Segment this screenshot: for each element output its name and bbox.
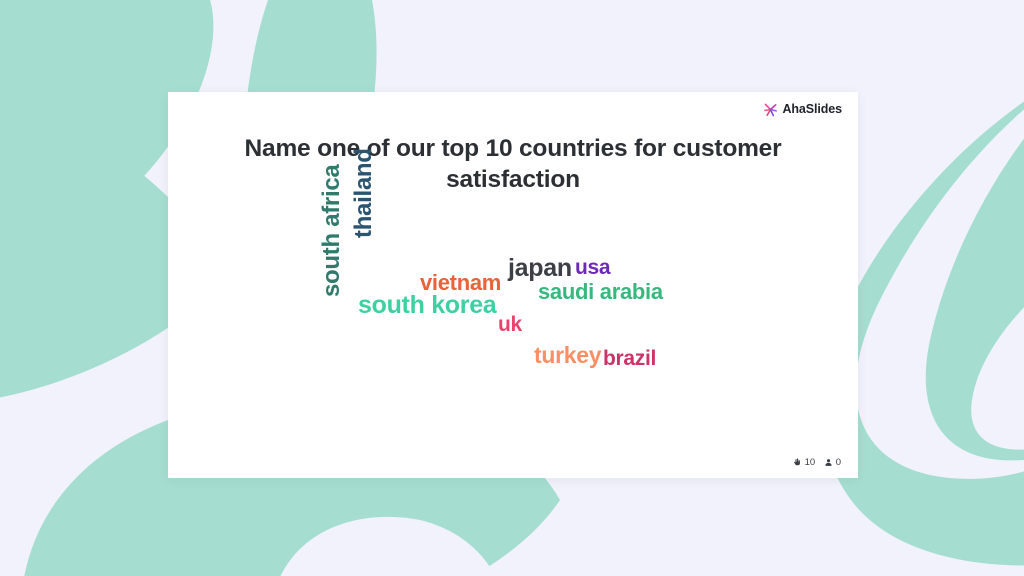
slide-card: AhaSlides Name one of our top 10 countri… <box>168 92 858 478</box>
word-cloud-item: south korea <box>358 293 496 318</box>
slide-footer-stats: 10 0 <box>793 458 841 468</box>
participant-count-stat: 0 <box>824 458 841 468</box>
word-cloud: south africathailandsouth koreavietnamja… <box>168 92 858 478</box>
word-cloud-item: brazil <box>603 348 656 369</box>
slide-viewer: AhaSlides Name one of our top 10 countri… <box>0 0 1024 576</box>
word-cloud-item: turkey <box>534 344 601 367</box>
word-cloud-item: south africa <box>320 165 344 297</box>
word-cloud-item: usa <box>575 257 610 278</box>
person-icon <box>824 458 833 467</box>
word-cloud-item: saudi arabia <box>538 281 663 303</box>
word-cloud-item: uk <box>498 314 522 335</box>
hand-vote-icon <box>793 458 802 467</box>
word-cloud-item: vietnam <box>420 272 501 294</box>
word-cloud-item: japan <box>508 256 572 281</box>
vote-count-stat: 10 <box>793 458 815 468</box>
vote-count-value: 10 <box>805 458 816 468</box>
word-cloud-item: thailand <box>352 148 376 238</box>
participant-count-value: 0 <box>836 458 841 468</box>
